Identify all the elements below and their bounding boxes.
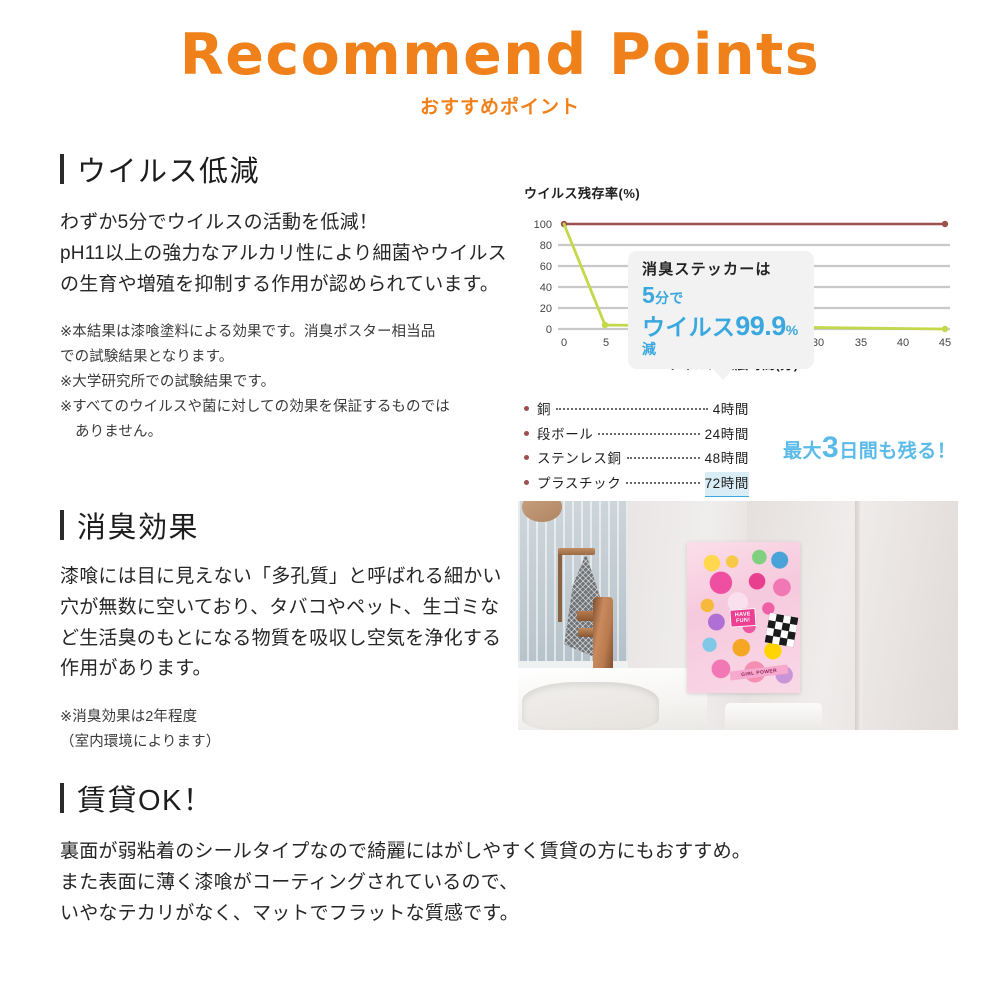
- section-body: 裏面が弱粘着のシールタイプなので綺麗にはがしやすく賃貸の方にもおすすめ。 また表…: [60, 837, 940, 929]
- poster-checker-pattern: [765, 612, 799, 647]
- chart-y-axis-label: ウイルス残存率(%): [524, 183, 956, 202]
- legend-leader-dots: [626, 482, 699, 484]
- svg-text:20: 20: [540, 303, 552, 315]
- section-title: 賃貸OK！: [77, 777, 213, 819]
- page-header: Recommend Points おすすめポイント: [0, 0, 1000, 119]
- legend-item: 段ボール 24時間: [524, 423, 749, 448]
- photo-wall-corner: [855, 501, 862, 730]
- section-notes: ※本結果は漆喰塗料による効果です。消臭ポスター相当品 での試験結果となります。 …: [60, 320, 512, 445]
- section-heading-virus-reduction: ウイルス低減: [60, 148, 512, 190]
- legend-bullet-icon: [524, 455, 529, 460]
- note-main: ※本結果は漆喰塗料による効果です。消臭ポスター相当品 での試験結果となります。 …: [60, 324, 450, 415]
- legend-bullet-icon: [524, 431, 529, 436]
- poster-ribbon-label: GIRL POWER: [730, 664, 789, 680]
- legend-leader-dots: [556, 408, 708, 410]
- message-suffix: 日間も残る！: [839, 441, 956, 462]
- section-rental-ok: 賃貸OK！ 裏面が弱粘着のシールタイプなので綺麗にはがしやすく賃貸の方にもおすす…: [60, 777, 940, 929]
- callout-reduction-value: 99.9: [735, 311, 786, 341]
- section-virus-reduction-text: ウイルス低減 わずか5分でウイルスの活動を低減！ pH11以上の強力なアルカリ性…: [60, 148, 512, 445]
- callout-line-2: 5分で: [642, 283, 802, 309]
- chart-plot-area: 100 80 60 40 20 0: [524, 209, 956, 349]
- svg-text:40: 40: [897, 337, 909, 349]
- svg-text:5: 5: [603, 337, 609, 349]
- heading-bar-icon: [60, 510, 64, 540]
- legend-leader-dots: [627, 457, 700, 459]
- svg-text:35: 35: [855, 337, 867, 349]
- section-note: ※消臭効果は2年程度 （室内環境によります）: [60, 705, 512, 755]
- legend-material: プラスチック: [537, 472, 621, 497]
- heading-bar-icon: [60, 154, 64, 184]
- virus-survival-chart: ウイルス残存率(%) 100 80 60 40 20 0: [524, 183, 956, 373]
- section-title: ウイルス低減: [77, 148, 260, 190]
- photo-sticker-poster: HAVE FUN! GIRL POWER: [687, 542, 799, 693]
- legend-item: 銅 4時間: [524, 398, 749, 423]
- legend-material: 段ボール: [537, 423, 593, 448]
- legend-duration: 24時間: [705, 423, 749, 448]
- legend-bullet-icon: [524, 406, 529, 411]
- photo-sink-basin: [522, 682, 658, 730]
- chart-series-control: [561, 221, 948, 227]
- legend-bullet-icon: [524, 480, 529, 485]
- chart-y-ticks: 100 80 60 40 20 0: [534, 219, 552, 336]
- section-title: 消臭効果: [77, 504, 199, 546]
- photo-toilet-tank: [725, 703, 822, 730]
- legend-list: 銅 4時間 段ボール 24時間 ステンレス銅 48時間 プラスチック 72時間: [524, 398, 749, 497]
- legend-item: プラスチック 72時間: [524, 472, 749, 498]
- svg-text:60: 60: [540, 261, 552, 273]
- note-tail: ありません。: [60, 420, 512, 445]
- poster-badge-label: HAVE FUN!: [730, 608, 757, 628]
- bathroom-photo-container: HAVE FUN! GIRL POWER: [518, 501, 958, 730]
- section-body: わずか5分でウイルスの活動を低減！ pH11以上の強力なアルカリ性により細菌やウ…: [60, 208, 512, 300]
- legend-duration: 48時間: [705, 447, 749, 472]
- legend-leader-dots: [598, 433, 699, 435]
- svg-text:40: 40: [540, 282, 552, 294]
- chart-callout-bubble: 消臭ステッカーは 5分で ウイルス99.9%減: [628, 251, 814, 369]
- legend-material: 銅: [537, 398, 551, 423]
- heading-bar-icon: [60, 783, 64, 813]
- section-deodorizing-text: 消臭効果 漆喰には目に見えない「多孔質」と呼ばれる細かい穴が無数に空いており、タ…: [60, 504, 512, 755]
- svg-text:100: 100: [534, 219, 552, 231]
- svg-text:45: 45: [939, 337, 951, 349]
- section-heading-deodorizing: 消臭効果: [60, 504, 512, 546]
- photo-towel-rail-stem: [558, 554, 563, 623]
- photo-towel-rail: [558, 548, 595, 555]
- legend-duration: 4時間: [713, 398, 749, 423]
- callout-virus-prefix: ウイルス: [642, 314, 735, 340]
- legend-item: ステンレス銅 48時間: [524, 447, 749, 472]
- material-survival-legend: 銅 4時間 段ボール 24時間 ステンレス銅 48時間 プラスチック 72時間 …: [524, 398, 960, 497]
- message-days-value: 3: [822, 431, 839, 464]
- message-prefix: 最大: [783, 441, 822, 462]
- section-heading-rental-ok: 賃貸OK！: [60, 777, 940, 819]
- callout-minutes-value: 5: [642, 282, 655, 308]
- bathroom-photo: HAVE FUN! GIRL POWER: [518, 501, 958, 730]
- svg-text:80: 80: [540, 240, 552, 252]
- legend-material: ステンレス銅: [537, 447, 622, 472]
- svg-text:0: 0: [546, 324, 552, 336]
- legend-highlight-message: 最大3日間も残る！: [783, 431, 956, 465]
- page-subtitle: おすすめポイント: [0, 92, 1000, 119]
- callout-minutes-unit: 分で: [655, 290, 684, 306]
- page-title: Recommend Points: [0, 26, 1000, 86]
- callout-line-3: ウイルス99.9%減: [642, 311, 802, 359]
- photo-faucet-body: [593, 597, 613, 675]
- callout-line-1: 消臭ステッカーは: [642, 260, 802, 280]
- section-body: 漆喰には目に見えない「多孔質」と呼ばれる細かい穴が無数に空いており、タバコやペッ…: [60, 562, 512, 685]
- svg-text:0: 0: [561, 337, 567, 349]
- legend-duration-highlighted: 72時間: [705, 472, 749, 498]
